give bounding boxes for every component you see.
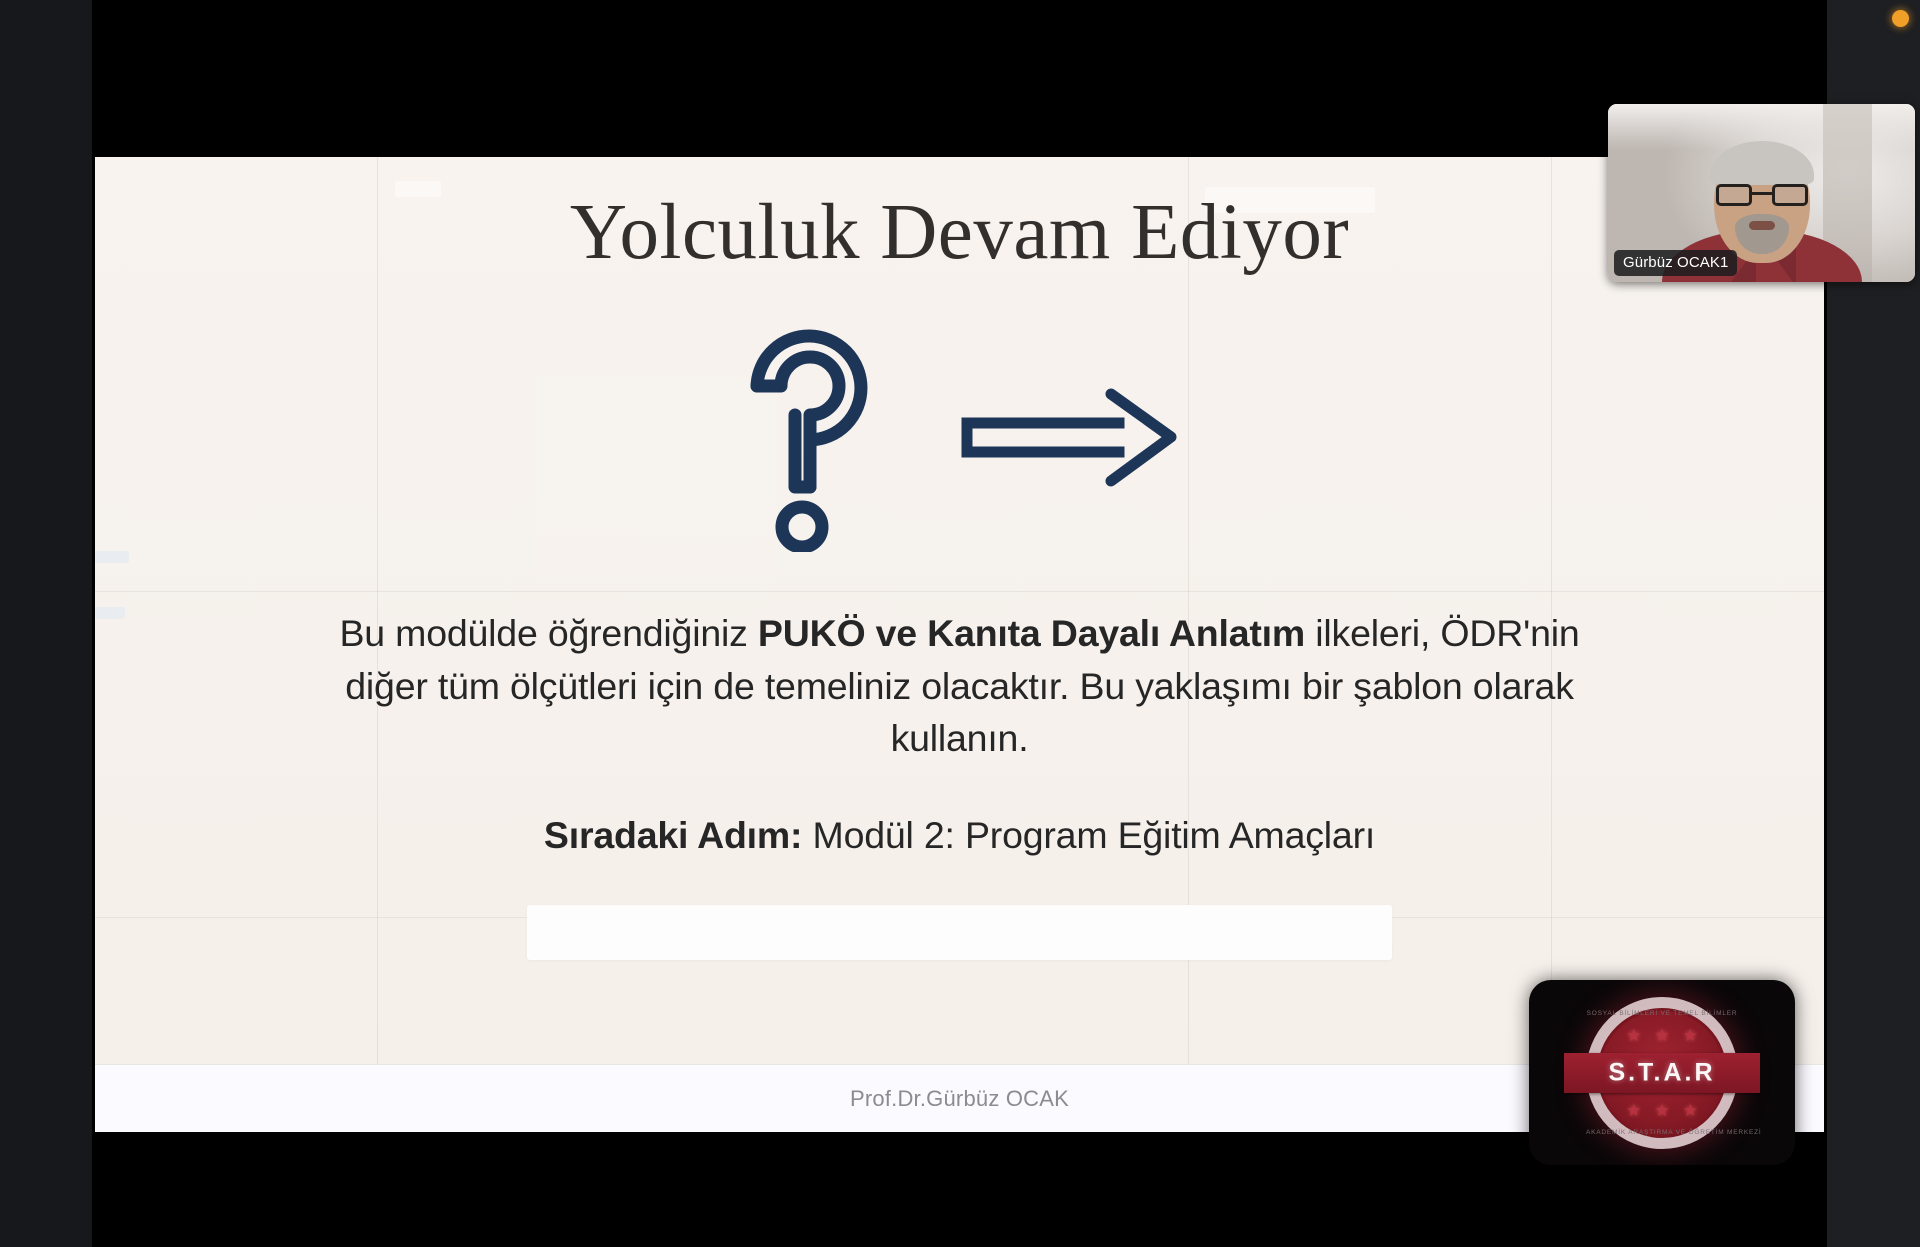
glasses-lens-left bbox=[1716, 184, 1752, 206]
star-mini-stars-top: ★ ★ ★ bbox=[1586, 1027, 1738, 1044]
star-mini-stars-bottom: ★ ★ ★ bbox=[1586, 1102, 1738, 1119]
star-glyph: ★ bbox=[1654, 1102, 1669, 1119]
glasses-bridge bbox=[1752, 192, 1772, 195]
slide-footer-author: Prof.Dr.Gürbüz OCAK bbox=[850, 1086, 1069, 1112]
presenter-mouth bbox=[1749, 221, 1775, 230]
presenter-name-label: Gürbüz OCAK1 bbox=[1614, 250, 1737, 276]
recording-indicator-dot bbox=[1892, 10, 1909, 27]
star-badge: SOSYAL BİLİMLERİ VE TEMEL BİLİMLER AKADE… bbox=[1586, 997, 1738, 1149]
screen-recording-window: Yolculuk Devam Ediyor Bu mo bbox=[0, 0, 1920, 1247]
star-wordmark: S.T.A.R bbox=[1586, 1058, 1738, 1087]
next-step-line: Sıradaki Adım: Modül 2: Program Eğitim A… bbox=[544, 811, 1375, 860]
slide-paragraph: Bu modülde öğrendiğiniz PUKÖ ve Kanıta D… bbox=[320, 607, 1600, 765]
slide-title: Yolculuk Devam Ediyor bbox=[570, 193, 1349, 272]
slide-icon-row bbox=[735, 320, 1184, 555]
star-logo-watermark: SOSYAL BİLİMLERİ VE TEMEL BİLİMLER AKADE… bbox=[1529, 980, 1795, 1165]
star-glyph: ★ bbox=[1654, 1027, 1669, 1044]
star-arc-text-bottom: AKADEMİK ARAŞTIRMA VE ÖĞRETİM MERKEZİ bbox=[1586, 1129, 1738, 1136]
next-step-value: Modül 2: Program Eğitim Amaçları bbox=[802, 814, 1375, 856]
presenter-video-thumbnail[interactable]: Gürbüz OCAK1 bbox=[1608, 104, 1915, 282]
next-step-label: Sıradaki Adım: bbox=[544, 814, 802, 856]
window-top-chrome bbox=[0, 0, 1920, 38]
star-glyph: ★ bbox=[1626, 1027, 1641, 1044]
double-arrow-right-icon bbox=[959, 385, 1184, 490]
star-glyph: ★ bbox=[1683, 1027, 1698, 1044]
glasses-lens-right bbox=[1772, 184, 1808, 206]
window-left-chrome bbox=[0, 0, 92, 1247]
paragraph-bold-term: PUKÖ ve Kanıta Dayalı Anlatım bbox=[758, 612, 1305, 654]
presenter-glasses-icon bbox=[1716, 184, 1808, 206]
slide-white-card bbox=[527, 905, 1392, 960]
question-mark-icon bbox=[735, 324, 885, 552]
paragraph-part-1: Bu modülde öğrendiğiniz bbox=[339, 612, 757, 654]
star-glyph: ★ bbox=[1683, 1102, 1698, 1119]
star-arc-text-top: SOSYAL BİLİMLERİ VE TEMEL BİLİMLER bbox=[1586, 1010, 1738, 1017]
star-glyph: ★ bbox=[1626, 1102, 1641, 1119]
